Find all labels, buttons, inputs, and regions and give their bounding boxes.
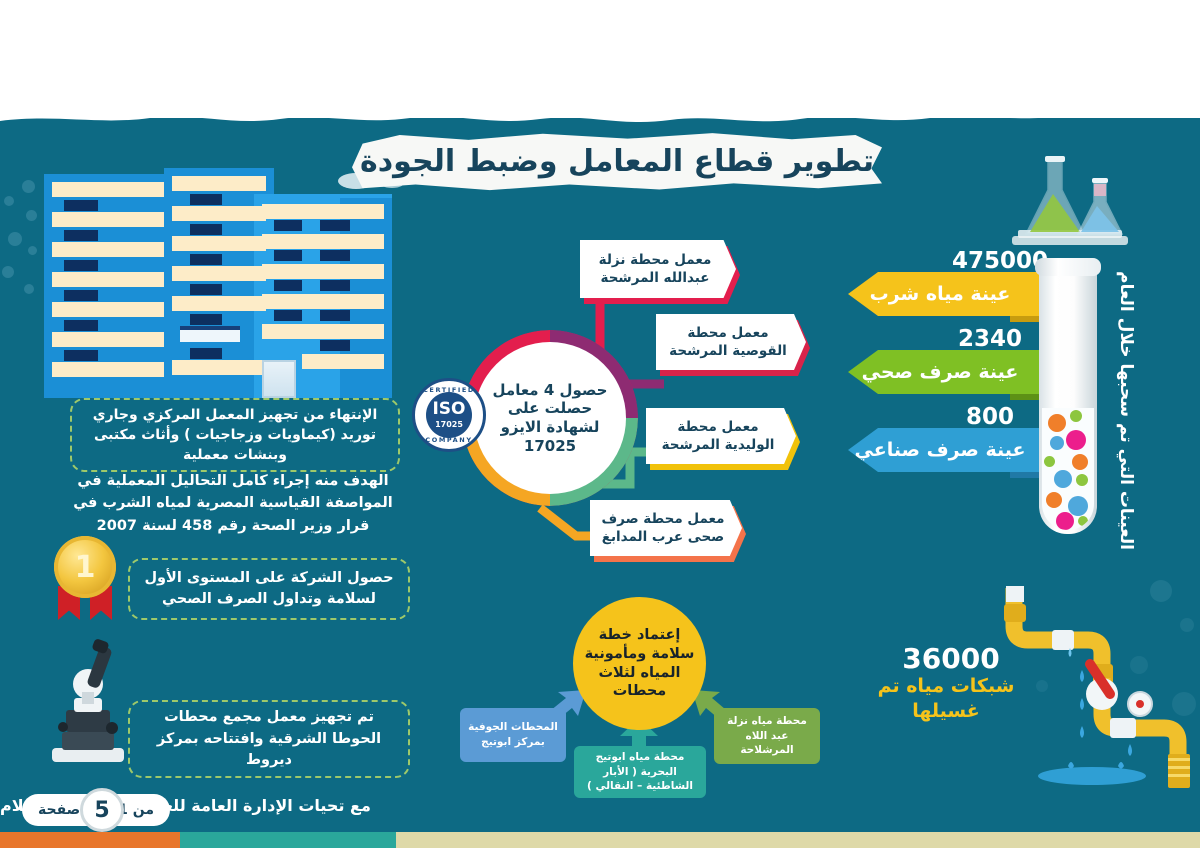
iso-badge-core: ISO 17025 [426, 392, 472, 438]
iso-badge-number: 17025 [435, 420, 463, 429]
microscope-icon [40, 636, 136, 768]
iso-badge-bottom: COMPANY [425, 436, 472, 444]
samples-vertical-label: العينات التي تم سحبها خلال العام [1116, 250, 1136, 550]
main-title-banner: تطوير قطاع المعامل وضبط الجودة [352, 130, 882, 192]
iso-badge-main: ISO [432, 401, 465, 418]
sample-arrow-1: عينة مياه شرب [848, 272, 1044, 316]
iso-certified-badge: CERTIFIED ISO 17025 COMPANY [412, 378, 486, 452]
page-word-label: صفحة [38, 802, 80, 818]
lab-callout-4: معمل محطة صرف صحى عرب المدابغ [590, 500, 742, 556]
water-pipes-icon [960, 586, 1190, 798]
medal-rank: 1 [54, 536, 116, 598]
central-lab-box: الإنتهاء من تجهيز المعمل المركزي وجاري ت… [70, 398, 400, 472]
building-sign [180, 326, 240, 342]
test-tube-icon [1035, 258, 1101, 534]
lab-callout-3: معمل محطة الوليدية المرشحة [646, 408, 796, 464]
strip-teal [180, 832, 396, 848]
sample-arrow-3: عينة صرف صناعي [848, 428, 1044, 472]
plan-station-2: محطة مياه ابوتيج البحرية ( الأبار الشاطئ… [574, 746, 706, 798]
tube-lip [1035, 258, 1101, 276]
building-illustration [40, 168, 392, 398]
footer-note: مع تحيات الإدارة العامة للعلاقات العامة … [0, 796, 1180, 815]
gold-medal-icon: 1 [48, 534, 122, 620]
strip-khaki [396, 832, 1200, 848]
torn-paper-edge [0, 104, 1200, 130]
donut-center: حصول 4 معامل حصلت على لشهادة الايزو 1702… [488, 356, 612, 480]
page-header [0, 0, 1200, 118]
sample-arrow-2: عينة صرف صحي [848, 350, 1044, 394]
iso-badge-top: CERTIFIED [423, 386, 475, 394]
bottom-color-strip [0, 832, 1200, 848]
building-entrance [262, 360, 296, 398]
page-number-badge: 5 [80, 788, 124, 832]
tube-liquid [1042, 408, 1094, 530]
goal-text: الهدف منه إجراء كامل التحاليل المعملية ف… [58, 470, 408, 537]
lab-callout-2: معمل محطة القوصية المرشحة [656, 314, 806, 370]
award-box: حصول الشركة على المستوى الأول لسلامة وتد… [128, 558, 410, 620]
strip-orange [0, 832, 180, 848]
lab-complex-box: تم تجهيز معمل مجمع محطات الحوطا الشرقية … [128, 700, 410, 778]
plan-station-3: محطة مياه نزلة عبد اللاه المرشلاحة [714, 708, 820, 764]
donut-center-text: حصول 4 معامل حصلت على لشهادة الايزو 1702… [488, 381, 612, 456]
infographic-page: حياة كريمة لكل مصري لكل مصرية شركة مياه … [0, 0, 1200, 848]
page-title: تطوير قطاع المعامل وضبط الجودة [352, 130, 882, 192]
lab-flasks-icon [1000, 146, 1140, 256]
lab-callout-1: معمل محطة نزلة عبدالله المرشحة [580, 240, 736, 298]
safety-plan-circle: إعتماد خطة سلامة ومأمونية المياه لثلاث م… [573, 597, 706, 730]
decorative-dots-left [0, 180, 40, 320]
plan-station-1: المحطات الجوفية بمركز ابوتيج [460, 708, 566, 762]
safety-plan-text: إعتماد خطة سلامة ومأمونية المياه لثلاث م… [582, 626, 698, 700]
